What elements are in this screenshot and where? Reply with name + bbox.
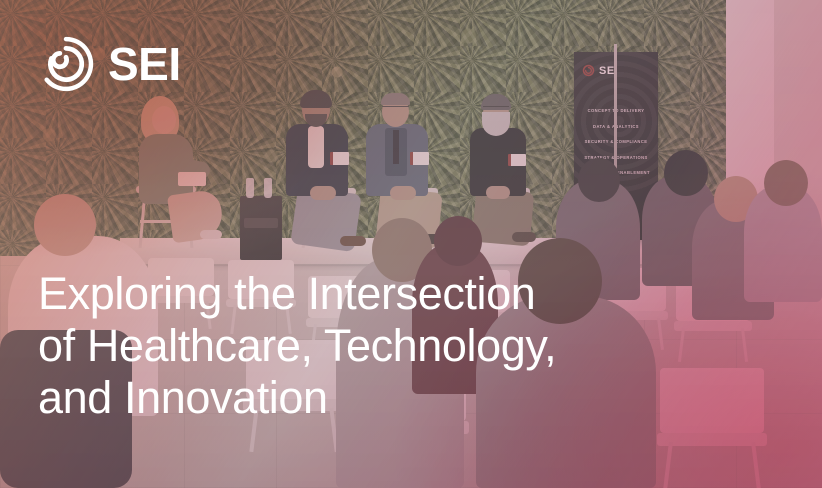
headline-line-1: Exploring the Intersection xyxy=(38,268,556,320)
sei-logo[interactable]: SEI xyxy=(38,36,181,92)
event-hero-banner: SEI CONCEPT TO DELIVERY DATA & ANALYTICS… xyxy=(0,0,822,488)
headline-line-2: of Healthcare, Technology, xyxy=(38,320,556,372)
sei-wordmark: SEI xyxy=(108,41,181,87)
sei-spiral-logo-icon xyxy=(38,36,94,92)
page-title: Exploring the Intersection of Healthcare… xyxy=(38,268,556,424)
headline-line-3: and Innovation xyxy=(38,372,556,424)
